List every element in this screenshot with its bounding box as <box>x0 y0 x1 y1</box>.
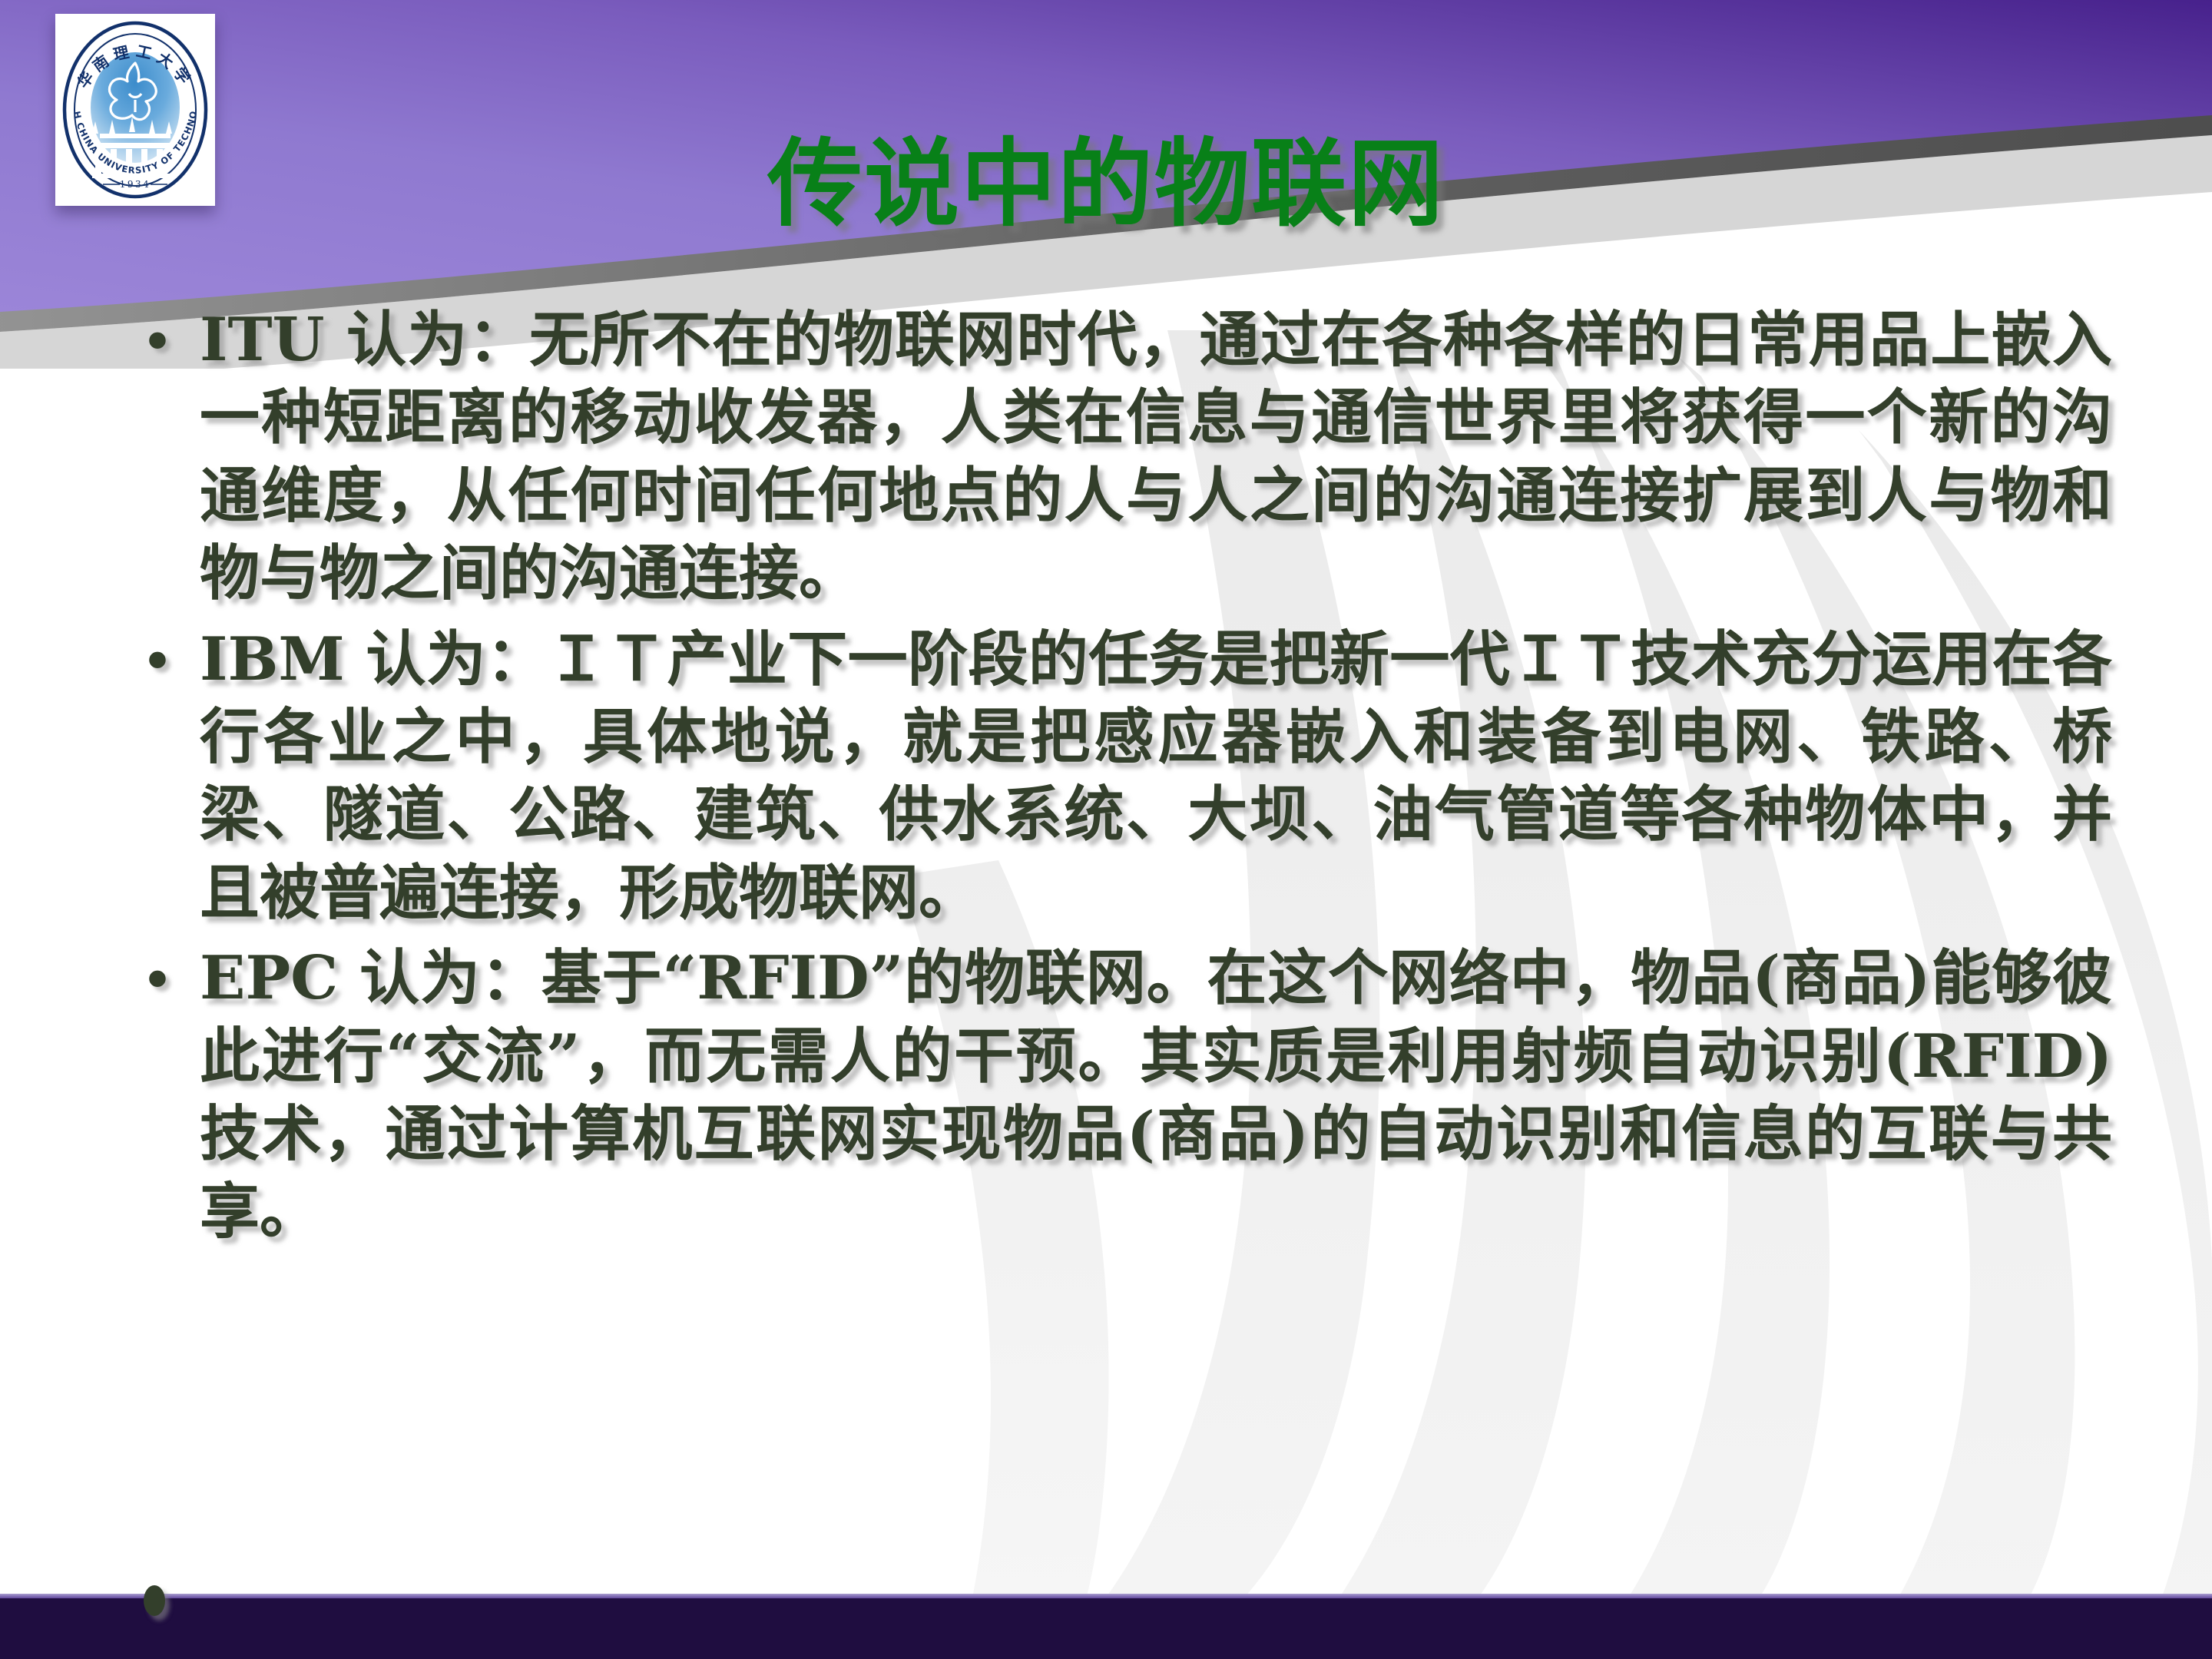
slide-body: • ITU 认为：无所不在的物联网时代，通过在各种各样的日常用品上嵌入一种短距离… <box>115 301 2112 1259</box>
bullet-item-itu: • ITU 认为：无所不在的物联网时代，通过在各种各样的日常用品上嵌入一种短距离… <box>115 301 2112 613</box>
bullet-text-epc: EPC 认为：基于“RFID”的物联网。在这个网络中，物品(商品)能够彼此进行“… <box>200 939 2112 1251</box>
bullet-item-epc: • EPC 认为：基于“RFID”的物联网。在这个网络中，物品(商品)能够彼此进… <box>115 939 2112 1251</box>
bullet-text-itu: ITU 认为：无所不在的物联网时代，通过在各种各样的日常用品上嵌入一种短距离的移… <box>200 301 2112 613</box>
slide-title: 传说中的物联网 <box>0 137 2212 232</box>
bullet-marker-icon: • <box>115 301 200 355</box>
bullet-text-ibm: IBM 认为：ＩＴ产业下一阶段的任务是把新一代ＩＴ技术充分运用在各行各业之中，具… <box>200 621 2112 932</box>
footer-bar-highlight <box>0 1594 2212 1598</box>
presentation-slide: 1934 华南理工大学 SOUTH CHINA UNIVERSITY OF TE… <box>0 0 2212 1659</box>
bullet-item-ibm: • IBM 认为：ＩＴ产业下一阶段的任务是把新一代ＩＴ技术充分运用在各行各业之中… <box>115 621 2112 932</box>
bullet-marker-icon: • <box>115 621 200 674</box>
bullet-marker-icon: • <box>115 939 200 993</box>
footer-bar <box>0 1594 2212 1659</box>
footer-accent-dot <box>144 1585 165 1616</box>
